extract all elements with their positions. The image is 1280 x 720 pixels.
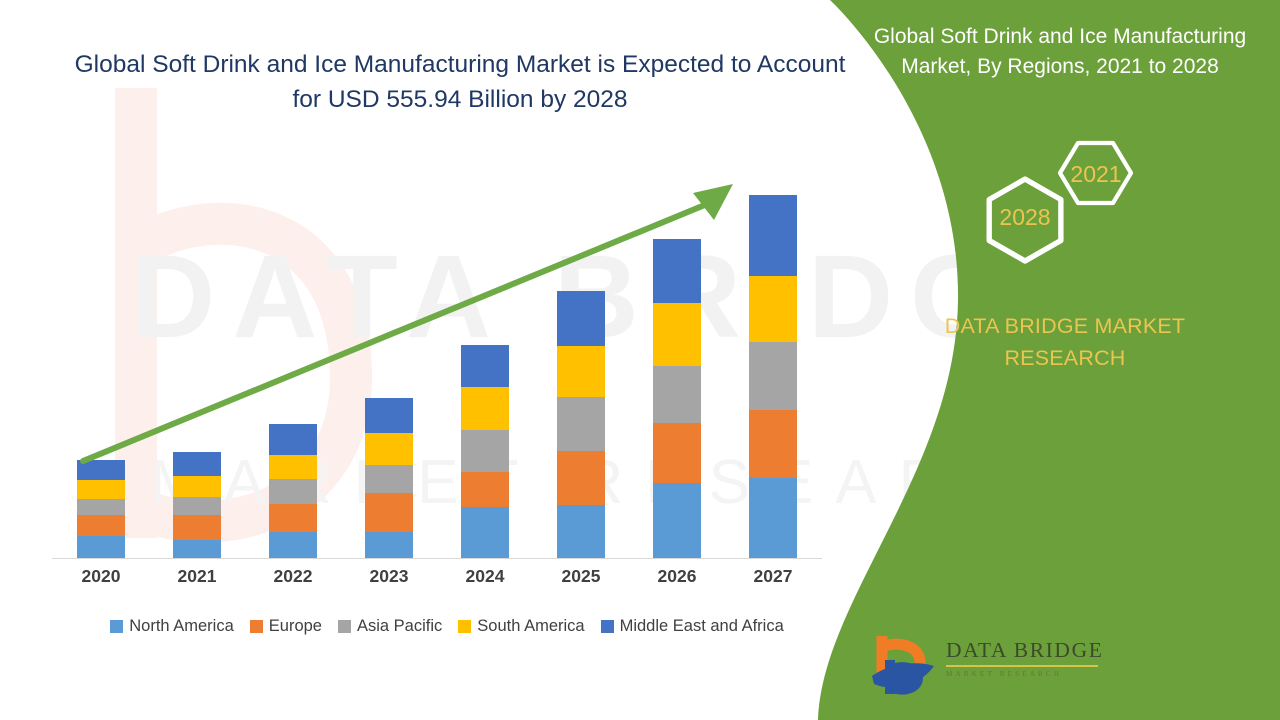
x-label-2022: 2022	[245, 566, 341, 587]
segment-south-america	[653, 303, 701, 366]
x-label-2023: 2023	[341, 566, 437, 587]
databridge-b-logo-icon	[868, 630, 940, 698]
segment-south-america	[173, 476, 221, 497]
logo-sub-text: MARKET RESEARCH	[946, 670, 1106, 678]
segment-north-america	[653, 483, 701, 558]
bar-column-2024[interactable]	[461, 345, 509, 558]
hexagon-label-2028: 2028	[999, 204, 1050, 230]
segment-south-america	[365, 433, 413, 465]
bar-column-2026[interactable]	[653, 239, 701, 558]
segment-asia-pacific	[749, 342, 797, 410]
logo-main-text: DATA BRIDGE	[946, 639, 1106, 663]
segment-europe	[653, 423, 701, 483]
legend-label-middle-east-and-africa: Middle East and Africa	[620, 617, 784, 636]
green-panel-content: Global Soft Drink and Ice Manufacturing …	[840, 0, 1280, 720]
segment-south-america	[77, 480, 125, 499]
legend-label-south-america: South America	[477, 617, 584, 636]
x-label-2026: 2026	[629, 566, 725, 587]
segment-europe	[173, 515, 221, 540]
legend-swatch-middle-east-and-africa	[601, 620, 614, 633]
segment-north-america	[749, 478, 797, 558]
segment-europe	[365, 493, 413, 532]
bar-column-2022[interactable]	[269, 424, 317, 558]
segment-middle-east-and-africa	[653, 239, 701, 303]
legend-item-north-america[interactable]: North America	[110, 617, 234, 636]
bar-column-2020[interactable]	[77, 460, 125, 558]
segment-asia-pacific	[77, 499, 125, 515]
x-label-2020: 2020	[53, 566, 149, 587]
chart-legend: North America Europe Asia Pacific South …	[52, 617, 842, 636]
legend-label-europe: Europe	[269, 617, 322, 636]
segment-middle-east-and-africa	[269, 424, 317, 455]
segment-north-america	[269, 532, 317, 558]
legend-swatch-south-america	[458, 620, 471, 633]
segment-asia-pacific	[269, 479, 317, 504]
segment-north-america	[77, 536, 125, 558]
panel-brand-text: DATA BRIDGE MARKET RESEARCH	[885, 310, 1245, 375]
segment-north-america	[365, 532, 413, 558]
segment-south-america	[269, 455, 317, 479]
bar-column-2023[interactable]	[365, 398, 413, 558]
legend-swatch-north-america	[110, 620, 123, 633]
legend-item-middle-east-and-africa[interactable]: Middle East and Africa	[601, 617, 784, 636]
databridge-logo: DATA BRIDGE MARKET RESEARCH	[868, 630, 1108, 700]
segment-asia-pacific	[365, 465, 413, 493]
legend-label-asia-pacific: Asia Pacific	[357, 617, 442, 636]
segment-europe	[269, 504, 317, 532]
x-label-2027: 2027	[725, 566, 821, 587]
year-hexagons: 2028 2021	[970, 133, 1190, 288]
hexagon-label-2021: 2021	[1070, 161, 1121, 187]
legend-label-north-america: North America	[129, 617, 234, 636]
panel-title: Global Soft Drink and Ice Manufacturing …	[870, 22, 1250, 82]
segment-asia-pacific	[461, 430, 509, 472]
segment-south-america	[461, 387, 509, 430]
segment-asia-pacific	[173, 497, 221, 515]
stacked-bar-chart	[52, 160, 832, 558]
segment-middle-east-and-africa	[173, 452, 221, 476]
segment-europe	[557, 451, 605, 505]
x-label-2025: 2025	[533, 566, 629, 587]
segment-north-america	[557, 505, 605, 558]
bar-column-2027[interactable]	[749, 195, 797, 558]
segment-europe	[749, 410, 797, 478]
logo-text-block: DATA BRIDGE MARKET RESEARCH	[946, 639, 1106, 678]
x-label-2024: 2024	[437, 566, 533, 587]
segment-middle-east-and-africa	[749, 195, 797, 276]
segment-middle-east-and-africa	[365, 398, 413, 433]
segment-asia-pacific	[557, 397, 605, 451]
segment-europe	[77, 515, 125, 536]
segment-europe	[461, 472, 509, 507]
legend-item-south-america[interactable]: South America	[458, 617, 584, 636]
legend-item-europe[interactable]: Europe	[250, 617, 322, 636]
slide-root: DATA BRIDGE MARKET RESEARCH Global Soft …	[0, 0, 1280, 720]
x-label-2021: 2021	[149, 566, 245, 587]
legend-item-asia-pacific[interactable]: Asia Pacific	[338, 617, 442, 636]
segment-south-america	[749, 276, 797, 342]
x-axis-labels: 2020 2021 2022 2023 2024 2025 2026 2027	[52, 566, 832, 594]
segment-middle-east-and-africa	[461, 345, 509, 387]
bar-column-2025[interactable]	[557, 291, 605, 558]
legend-swatch-asia-pacific	[338, 620, 351, 633]
chart-title: Global Soft Drink and Ice Manufacturing …	[60, 48, 860, 118]
bar-column-2021[interactable]	[173, 452, 221, 558]
segment-south-america	[557, 346, 605, 397]
segment-middle-east-and-africa	[557, 291, 605, 346]
x-axis-line	[52, 558, 822, 559]
segment-north-america	[173, 540, 221, 558]
legend-swatch-europe	[250, 620, 263, 633]
logo-divider	[946, 665, 1098, 667]
segment-middle-east-and-africa	[77, 460, 125, 480]
segment-north-america	[461, 507, 509, 558]
segment-asia-pacific	[653, 366, 701, 423]
